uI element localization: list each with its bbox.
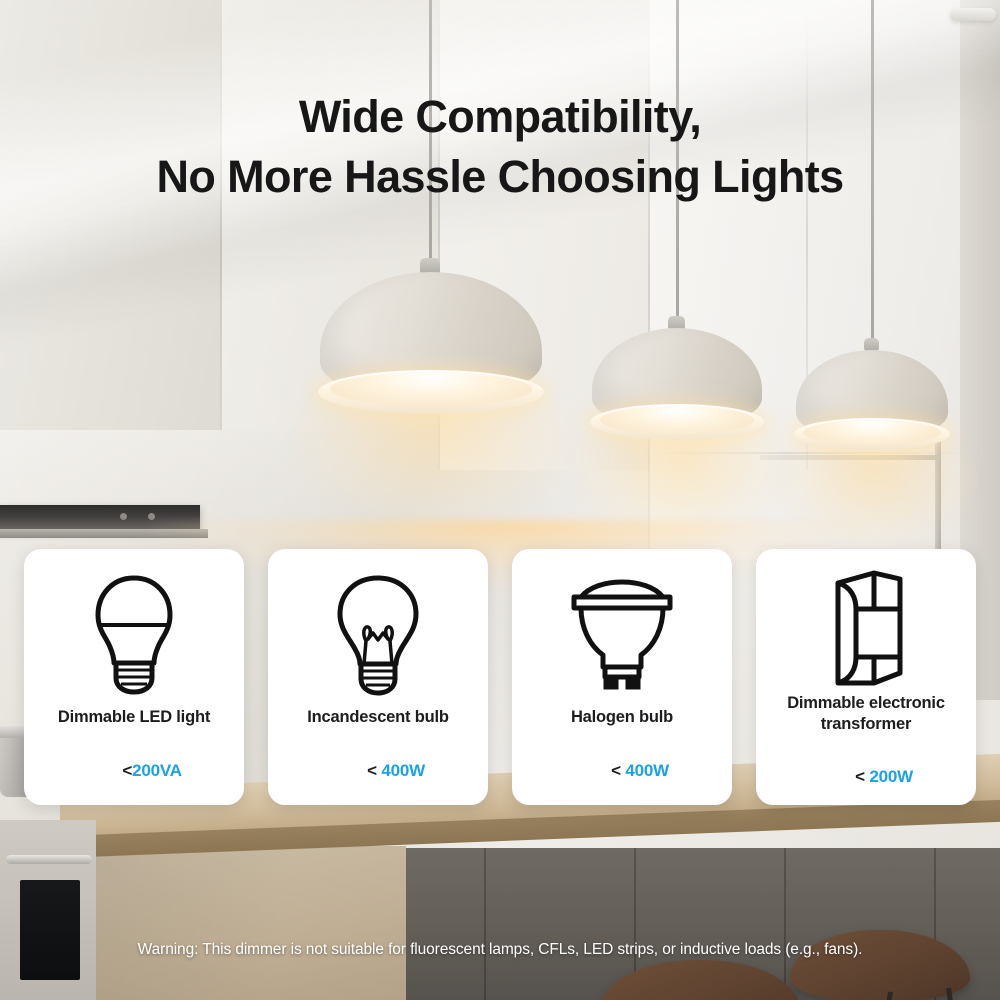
- less-than-symbol: <: [367, 761, 381, 780]
- card-title: Dimmable electronic transformer: [756, 693, 976, 734]
- pendant-shade-inner: [330, 372, 532, 406]
- page-title: Wide Compatibility, No More Hassle Choos…: [0, 87, 1000, 207]
- halogen-bulb-icon: [567, 565, 677, 705]
- pendant-ceiling-rose: [950, 8, 996, 21]
- card-power-limit: < 200W: [819, 747, 913, 807]
- island-shading: [86, 846, 406, 1000]
- headline-line-2: No More Hassle Choosing Lights: [0, 147, 1000, 207]
- pendant-shade-inner: [600, 406, 754, 434]
- card-power-limit: < 400W: [575, 741, 669, 801]
- compatibility-card-halogen[interactable]: Halogen bulb < 400W: [512, 549, 732, 805]
- compatibility-card-row: Dimmable LED light <200VA: [24, 549, 976, 805]
- led-bulb-icon: [91, 565, 177, 705]
- limit-value: 200VA: [132, 761, 182, 780]
- less-than-symbol: <: [855, 767, 869, 786]
- less-than-symbol: <: [122, 761, 132, 780]
- less-than-symbol: <: [611, 761, 625, 780]
- oven-handle: [6, 855, 92, 864]
- compatibility-card-incandescent[interactable]: Incandescent bulb < 400W: [268, 549, 488, 805]
- warning-text: Warning: This dimmer is not suitable for…: [0, 941, 1000, 959]
- compatibility-card-transformer[interactable]: Dimmable electronic transformer < 200W: [756, 549, 976, 805]
- limit-value: 200W: [869, 767, 913, 786]
- card-title: Dimmable LED light: [50, 707, 218, 728]
- card-power-limit: < 400W: [331, 741, 425, 801]
- card-power-limit: <200VA: [86, 741, 182, 801]
- card-title: Halogen bulb: [563, 707, 681, 728]
- incandescent-bulb-icon: [335, 565, 421, 705]
- pendant-shade-inner: [803, 420, 941, 445]
- card-title: Incandescent bulb: [299, 707, 456, 728]
- product-feature-banner: Wide Compatibility, No More Hassle Choos…: [0, 0, 1000, 1000]
- compatibility-card-led[interactable]: Dimmable LED light <200VA: [24, 549, 244, 805]
- limit-value: 400W: [625, 761, 669, 780]
- oven-door-glass: [20, 880, 80, 980]
- electronic-transformer-icon: [818, 565, 914, 691]
- headline-line-1: Wide Compatibility,: [299, 91, 701, 142]
- limit-value: 400W: [381, 761, 425, 780]
